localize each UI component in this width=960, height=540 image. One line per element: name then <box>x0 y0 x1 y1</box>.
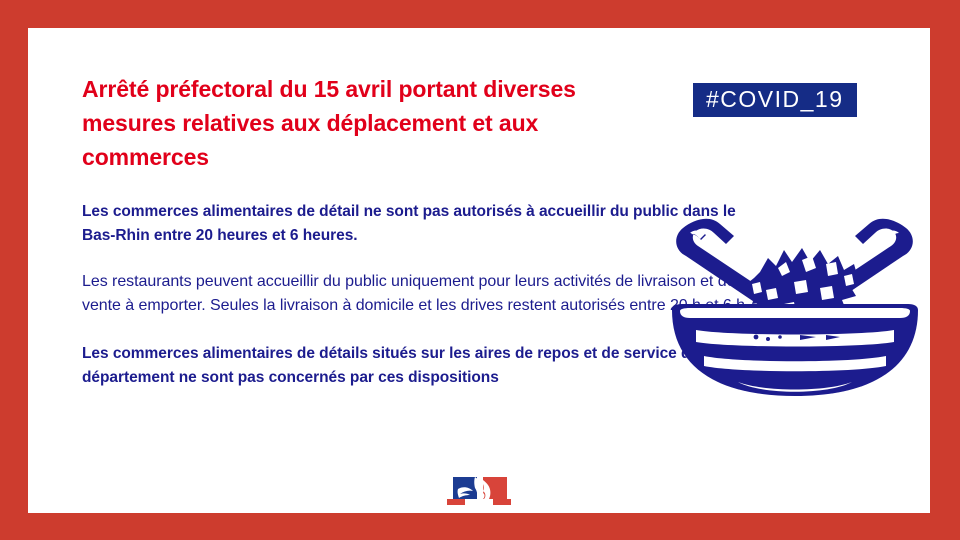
covid-hashtag-badge: #COVID_19 <box>693 83 857 117</box>
page-title: Arrêté préfectoral du 15 avril portant d… <box>82 72 662 174</box>
paragraph-spacer <box>82 248 762 270</box>
poster-canvas: Arrêté préfectoral du 15 avril portant d… <box>0 0 960 540</box>
paragraph-spacer <box>82 318 762 342</box>
white-content-card: Arrêté préfectoral du 15 avril portant d… <box>28 28 930 513</box>
paragraph-restaurants-delivery: Les restaurants peuvent accueillir du pu… <box>82 270 762 318</box>
french-republic-marianne-logo <box>447 473 511 507</box>
body-text-block: Les commerces alimentaires de détail ne … <box>82 200 762 390</box>
paragraph-food-retail-curfew: Les commerces alimentaires de détail ne … <box>82 200 762 248</box>
paragraph-rest-areas-exemption: Les commerces alimentaires de détails si… <box>82 342 762 390</box>
